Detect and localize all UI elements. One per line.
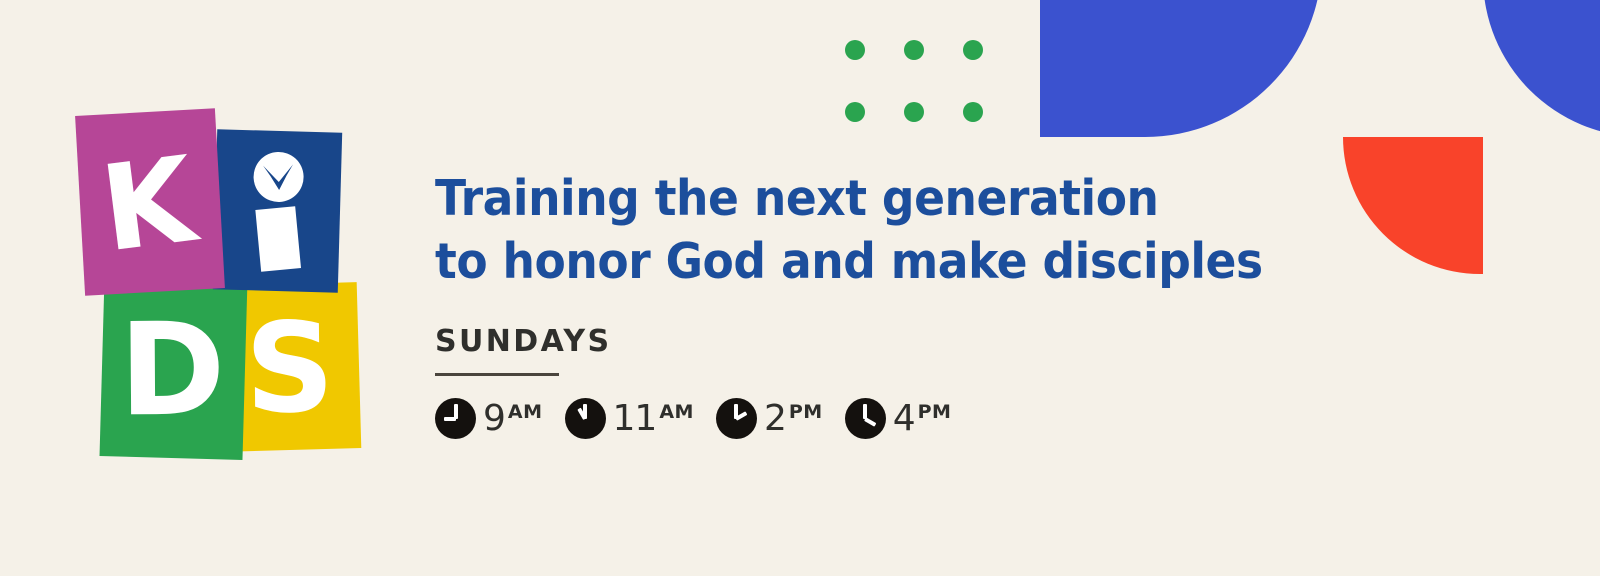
headline-line-2: to honor God and make disciples (435, 231, 1244, 294)
logo-tile-d: D (100, 276, 248, 460)
clock-icon (565, 398, 606, 439)
kids-ministry-banner: D S K Training the next generation to ho… (0, 0, 1600, 576)
logo-tile-i (213, 129, 342, 292)
service-time-meridiem: PM (918, 403, 952, 422)
service-time-item: 2 PM (716, 398, 823, 439)
clock-hour-hand (444, 417, 456, 421)
red-quarter-round-shape (1343, 137, 1483, 274)
schedule-day-label: SUNDAYS (435, 327, 1305, 357)
service-time-label: 11 AM (613, 401, 694, 437)
service-time-label: 9 AM (483, 401, 543, 437)
dot-icon (904, 40, 924, 60)
service-time-meridiem: AM (659, 403, 694, 422)
service-time-label: 2 PM (764, 401, 823, 437)
clock-icon (845, 398, 886, 439)
logo-tile-k: K (75, 108, 225, 296)
service-time-item: 4 PM (845, 398, 952, 439)
service-times-list: 9 AM 11 AM 2 (435, 398, 1305, 439)
dot-icon (963, 102, 983, 122)
service-time-meridiem: AM (508, 403, 543, 422)
kids-logo: D S K (78, 112, 350, 457)
i-stem (255, 206, 301, 271)
headline: Training the next generation to honor Go… (435, 168, 1244, 293)
logo-letter-k: K (95, 140, 201, 269)
green-dot-grid (845, 0, 1022, 164)
dot-icon (845, 40, 865, 60)
service-time-label: 4 PM (893, 401, 952, 437)
service-time-number: 9 (483, 401, 505, 437)
divider (435, 373, 559, 376)
dot-icon (904, 102, 924, 122)
service-time-meridiem: PM (789, 403, 823, 422)
blue-quarter-round-shape-right (1483, 0, 1600, 137)
dot-icon (845, 102, 865, 122)
copy-block: Training the next generation to honor Go… (435, 168, 1305, 439)
clock-icon (716, 398, 757, 439)
service-time-number: 4 (893, 401, 915, 437)
logo-letter-s: S (244, 307, 335, 432)
clock-hour-hand (864, 417, 876, 426)
logo-letter-i (240, 151, 315, 272)
dot-icon (963, 40, 983, 60)
service-time-item: 11 AM (565, 398, 694, 439)
check-swoosh-icon (252, 151, 304, 203)
logo-letter-d: D (119, 307, 226, 436)
schedule-heading-group: SUNDAYS (435, 327, 1305, 376)
clock-icon (435, 398, 476, 439)
service-time-number: 2 (764, 401, 786, 437)
headline-line-1: Training the next generation (435, 168, 1244, 231)
blue-quarter-round-shape-left (1040, 0, 1322, 137)
service-time-number: 11 (613, 401, 657, 437)
service-time-item: 9 AM (435, 398, 543, 439)
